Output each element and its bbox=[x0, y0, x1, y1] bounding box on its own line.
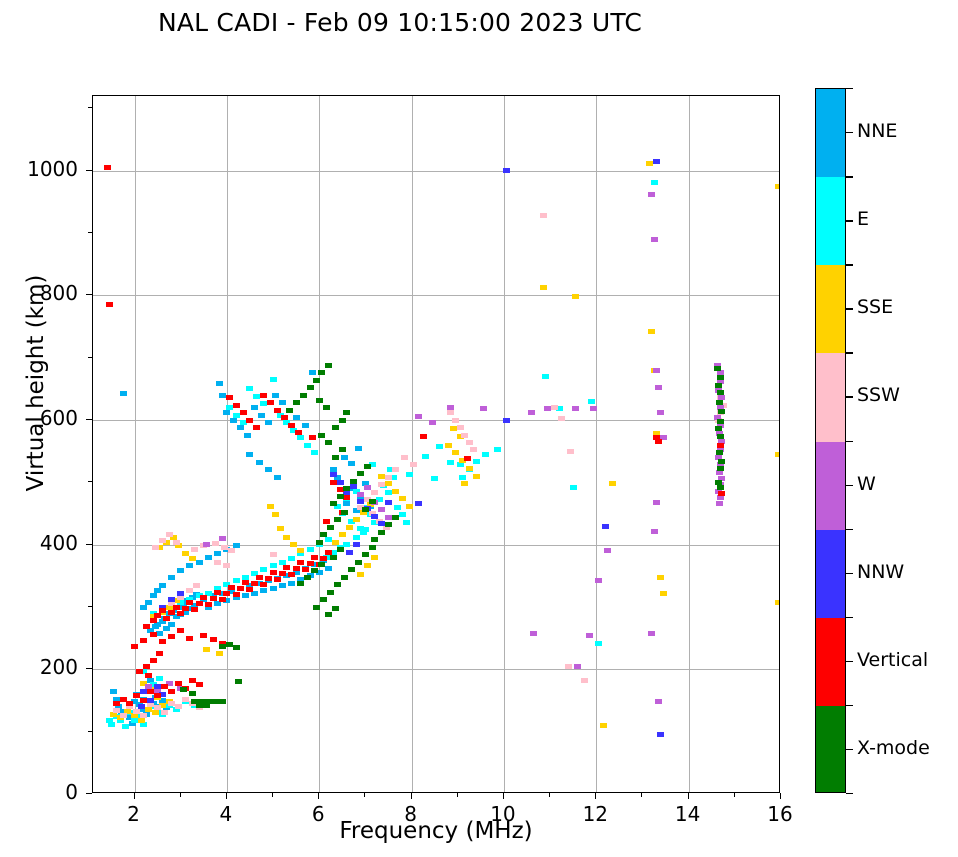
data-point bbox=[212, 541, 219, 546]
data-point bbox=[311, 568, 318, 573]
data-point bbox=[717, 485, 724, 490]
data-point bbox=[542, 374, 549, 379]
data-point bbox=[274, 577, 281, 582]
data-point bbox=[325, 612, 332, 617]
data-point bbox=[288, 556, 295, 561]
data-point bbox=[214, 551, 221, 556]
data-point bbox=[530, 631, 537, 636]
data-point bbox=[311, 450, 318, 455]
data-point bbox=[503, 168, 510, 173]
data-point bbox=[196, 703, 203, 708]
data-point bbox=[394, 505, 401, 510]
data-point bbox=[226, 405, 233, 410]
data-point bbox=[392, 489, 399, 494]
data-point bbox=[341, 575, 348, 580]
data-point bbox=[233, 592, 240, 597]
data-point bbox=[311, 555, 318, 560]
x-axis-tick bbox=[318, 793, 319, 799]
data-point bbox=[186, 588, 193, 593]
data-point bbox=[106, 302, 113, 307]
data-point bbox=[353, 542, 360, 547]
data-point bbox=[193, 583, 200, 588]
data-point bbox=[339, 532, 346, 537]
legend-tick bbox=[846, 749, 853, 750]
data-point bbox=[325, 440, 332, 445]
gridline-vertical bbox=[319, 96, 320, 792]
data-point bbox=[716, 450, 723, 455]
legend-swatch-x-mode[interactable] bbox=[816, 706, 845, 793]
data-point bbox=[364, 464, 371, 469]
data-point bbox=[307, 561, 314, 566]
data-point bbox=[246, 587, 253, 592]
data-point bbox=[196, 601, 203, 606]
x-axis-title: Frequency (MHz) bbox=[92, 818, 780, 844]
data-point bbox=[196, 560, 203, 565]
data-point bbox=[122, 724, 129, 729]
data-point bbox=[717, 466, 724, 471]
data-point bbox=[325, 363, 332, 368]
data-point bbox=[385, 500, 392, 505]
data-point bbox=[120, 391, 127, 396]
data-point bbox=[717, 434, 724, 439]
data-point bbox=[364, 485, 371, 490]
data-point bbox=[406, 472, 413, 477]
legend-label-ssw: SSW bbox=[857, 384, 900, 406]
gridline-horizontal bbox=[93, 420, 779, 421]
data-point bbox=[270, 552, 277, 557]
data-point bbox=[226, 642, 233, 647]
data-point bbox=[330, 472, 337, 477]
data-point bbox=[156, 651, 163, 656]
data-point bbox=[163, 616, 170, 621]
legend-tick bbox=[846, 396, 853, 397]
data-point bbox=[403, 520, 410, 525]
plot-area bbox=[92, 95, 780, 793]
data-point bbox=[570, 485, 577, 490]
data-point bbox=[260, 588, 267, 593]
data-point bbox=[341, 510, 348, 515]
data-point bbox=[445, 443, 452, 448]
gridline-horizontal bbox=[93, 295, 779, 296]
data-point bbox=[600, 723, 607, 728]
legend-swatch-nne[interactable] bbox=[816, 89, 845, 178]
data-point bbox=[422, 454, 429, 459]
ionogram-chart: NAL CADI - Feb 09 10:15:00 2023 UTC 2468… bbox=[0, 0, 958, 857]
data-point bbox=[399, 496, 406, 501]
data-point bbox=[108, 722, 115, 727]
data-point bbox=[140, 713, 147, 718]
legend-label-nne: NNE bbox=[857, 120, 897, 142]
data-point bbox=[313, 378, 320, 383]
legend-label-w: W bbox=[857, 473, 876, 495]
data-point bbox=[385, 481, 392, 486]
data-point bbox=[173, 540, 180, 545]
legend-boundary-tick bbox=[846, 793, 853, 794]
data-point bbox=[175, 704, 182, 709]
data-point bbox=[161, 710, 168, 715]
data-point bbox=[320, 597, 327, 602]
data-point bbox=[156, 676, 163, 681]
data-point bbox=[330, 480, 337, 485]
legend-tick bbox=[846, 220, 853, 221]
data-point bbox=[332, 606, 339, 611]
data-point bbox=[138, 718, 145, 723]
data-point bbox=[574, 664, 581, 669]
data-point bbox=[180, 687, 187, 692]
data-point bbox=[272, 393, 279, 398]
data-point bbox=[120, 713, 127, 718]
legend-swatch-ssw[interactable] bbox=[816, 353, 845, 442]
data-point bbox=[265, 576, 272, 581]
data-point bbox=[177, 628, 184, 633]
legend-boundary-tick bbox=[846, 264, 853, 265]
data-point bbox=[540, 213, 547, 218]
data-point bbox=[150, 593, 157, 598]
data-point bbox=[159, 583, 166, 588]
legend-boundary-tick bbox=[846, 617, 853, 618]
y-axis-tick bbox=[86, 544, 92, 545]
data-point bbox=[595, 641, 602, 646]
gridline-vertical bbox=[689, 96, 690, 792]
data-point bbox=[360, 530, 367, 535]
gridline-vertical bbox=[504, 96, 505, 792]
data-point bbox=[355, 560, 362, 565]
data-point bbox=[244, 433, 251, 438]
data-point bbox=[265, 467, 272, 472]
data-point bbox=[318, 562, 325, 567]
data-point bbox=[609, 481, 616, 486]
data-point bbox=[371, 514, 378, 519]
data-point bbox=[223, 410, 230, 415]
x-axis-tick bbox=[780, 793, 781, 799]
data-point bbox=[348, 461, 355, 466]
data-point bbox=[290, 542, 297, 547]
data-point bbox=[283, 565, 290, 570]
data-point bbox=[237, 425, 244, 430]
x-axis-tick bbox=[688, 793, 689, 799]
data-point bbox=[447, 405, 454, 410]
data-point bbox=[646, 161, 653, 166]
data-point bbox=[293, 566, 300, 571]
data-point bbox=[159, 608, 166, 613]
data-point bbox=[246, 386, 253, 391]
data-point bbox=[295, 430, 302, 435]
data-point bbox=[186, 563, 193, 568]
data-point bbox=[572, 406, 579, 411]
data-point bbox=[378, 482, 385, 487]
legend-swatch-vertical[interactable] bbox=[816, 618, 845, 707]
y-axis-title: Virtual height (km) bbox=[23, 223, 49, 543]
data-point bbox=[186, 600, 193, 605]
x-axis-tick bbox=[503, 793, 504, 799]
data-point bbox=[253, 394, 260, 399]
data-point bbox=[429, 420, 436, 425]
data-point bbox=[150, 632, 157, 637]
data-point bbox=[357, 499, 364, 504]
data-point bbox=[651, 180, 658, 185]
data-point bbox=[343, 542, 350, 547]
data-point bbox=[143, 664, 150, 669]
data-point bbox=[233, 578, 240, 583]
data-point bbox=[242, 580, 249, 585]
data-point bbox=[288, 423, 295, 428]
data-point bbox=[265, 420, 272, 425]
data-point bbox=[459, 475, 466, 480]
data-point bbox=[588, 399, 595, 404]
data-point bbox=[558, 416, 565, 421]
data-point bbox=[154, 588, 161, 593]
data-point bbox=[320, 532, 327, 537]
data-point bbox=[457, 462, 464, 467]
data-point bbox=[341, 455, 348, 460]
data-point bbox=[461, 481, 468, 486]
data-point bbox=[228, 548, 235, 553]
data-point bbox=[168, 610, 175, 615]
data-point bbox=[166, 532, 173, 537]
y-axis-minor-tick bbox=[88, 107, 92, 108]
data-point bbox=[334, 582, 341, 587]
legend-swatch-sse[interactable] bbox=[816, 265, 845, 354]
data-point bbox=[717, 390, 724, 395]
data-point bbox=[147, 689, 154, 694]
data-point bbox=[653, 368, 660, 373]
data-point bbox=[140, 638, 147, 643]
data-point bbox=[297, 548, 304, 553]
data-point bbox=[473, 474, 480, 479]
data-point bbox=[293, 400, 300, 405]
data-point bbox=[267, 504, 274, 509]
data-point bbox=[528, 410, 535, 415]
data-point bbox=[288, 581, 295, 586]
data-point bbox=[655, 699, 662, 704]
data-point bbox=[392, 467, 399, 472]
legend-boundary-tick bbox=[846, 88, 853, 89]
data-point bbox=[357, 572, 364, 577]
data-point bbox=[260, 582, 267, 587]
data-point bbox=[219, 597, 226, 602]
data-point bbox=[318, 433, 325, 438]
data-point bbox=[196, 682, 203, 687]
data-point bbox=[717, 375, 724, 380]
data-point bbox=[369, 545, 376, 550]
data-point bbox=[364, 563, 371, 568]
data-point bbox=[337, 494, 344, 499]
data-point bbox=[399, 512, 406, 517]
data-point bbox=[214, 590, 221, 595]
data-point bbox=[191, 607, 198, 612]
data-point bbox=[775, 600, 780, 605]
data-point bbox=[337, 547, 344, 552]
data-point bbox=[718, 409, 725, 414]
data-point bbox=[240, 410, 247, 415]
legend-colorbar[interactable] bbox=[815, 88, 846, 793]
data-point bbox=[140, 605, 147, 610]
legend-tick bbox=[846, 485, 853, 486]
data-point bbox=[156, 631, 163, 636]
legend-swatch-nnw[interactable] bbox=[816, 530, 845, 619]
data-point bbox=[140, 698, 147, 703]
data-point bbox=[253, 425, 260, 430]
data-point bbox=[302, 567, 309, 572]
legend-label-nnw: NNW bbox=[857, 561, 904, 583]
data-point bbox=[152, 545, 159, 550]
data-point bbox=[304, 575, 311, 580]
data-point bbox=[473, 459, 480, 464]
data-point bbox=[279, 571, 286, 576]
data-point bbox=[357, 492, 364, 497]
data-point bbox=[371, 555, 378, 560]
data-point bbox=[210, 596, 217, 601]
data-point bbox=[203, 542, 210, 547]
data-point bbox=[775, 452, 780, 457]
data-point bbox=[648, 329, 655, 334]
y-axis-tick bbox=[86, 419, 92, 420]
data-point bbox=[216, 651, 223, 656]
data-point bbox=[281, 415, 288, 420]
data-point bbox=[718, 459, 725, 464]
data-point bbox=[297, 560, 304, 565]
y-axis-minor-tick bbox=[88, 481, 92, 482]
data-point bbox=[110, 689, 117, 694]
data-point bbox=[503, 418, 510, 423]
legend-label-x-mode: X-mode bbox=[857, 737, 930, 759]
data-point bbox=[343, 410, 350, 415]
data-point bbox=[602, 524, 609, 529]
data-point bbox=[452, 418, 459, 423]
data-point bbox=[410, 462, 417, 467]
data-point bbox=[320, 556, 327, 561]
y-axis-minor-tick bbox=[88, 606, 92, 607]
legend-swatch-w[interactable] bbox=[816, 442, 845, 531]
data-point bbox=[464, 456, 471, 461]
data-point bbox=[653, 159, 660, 164]
data-point bbox=[136, 669, 143, 674]
data-point bbox=[267, 400, 274, 405]
data-point bbox=[480, 406, 487, 411]
data-point bbox=[168, 689, 175, 694]
gridline-vertical bbox=[135, 96, 136, 792]
data-point bbox=[226, 395, 233, 400]
data-point bbox=[660, 591, 667, 596]
data-point bbox=[581, 678, 588, 683]
data-point bbox=[655, 385, 662, 390]
data-point bbox=[316, 398, 323, 403]
data-point bbox=[270, 586, 277, 591]
data-point bbox=[214, 601, 221, 606]
data-point bbox=[304, 443, 311, 448]
data-point bbox=[717, 443, 724, 448]
data-point bbox=[494, 447, 501, 452]
legend-tick bbox=[846, 573, 853, 574]
y-axis-minor-tick bbox=[88, 731, 92, 732]
data-point bbox=[313, 605, 320, 610]
data-point bbox=[346, 525, 353, 530]
gridline-vertical bbox=[227, 96, 228, 792]
data-point bbox=[147, 698, 154, 703]
data-point bbox=[420, 434, 427, 439]
data-point bbox=[168, 634, 175, 639]
data-point bbox=[163, 626, 170, 631]
y-axis-tick-label: 0 bbox=[0, 780, 78, 804]
data-point bbox=[590, 406, 597, 411]
data-point bbox=[168, 597, 175, 602]
data-point bbox=[230, 418, 237, 423]
data-point bbox=[655, 439, 662, 444]
data-point bbox=[177, 568, 184, 573]
data-point bbox=[191, 547, 198, 552]
legend-swatch-e[interactable] bbox=[816, 177, 845, 266]
data-point bbox=[357, 471, 364, 476]
data-point bbox=[246, 418, 253, 423]
data-point bbox=[332, 540, 339, 545]
data-point bbox=[260, 567, 267, 572]
y-axis-minor-tick bbox=[88, 357, 92, 358]
data-point bbox=[385, 475, 392, 480]
x-axis-tick bbox=[411, 793, 412, 799]
data-point bbox=[657, 575, 664, 580]
gridline-horizontal bbox=[93, 669, 779, 670]
data-point bbox=[350, 484, 357, 489]
data-point bbox=[551, 405, 558, 410]
data-point bbox=[715, 426, 722, 431]
data-point bbox=[177, 591, 184, 596]
data-point bbox=[648, 192, 655, 197]
x-axis-tick bbox=[134, 793, 135, 799]
data-point bbox=[274, 408, 281, 413]
data-point bbox=[346, 550, 353, 555]
data-point bbox=[572, 294, 579, 299]
data-point bbox=[173, 605, 180, 610]
gridline-horizontal bbox=[93, 171, 779, 172]
data-point bbox=[307, 547, 314, 552]
data-point bbox=[182, 606, 189, 611]
data-point bbox=[189, 556, 196, 561]
data-point bbox=[233, 403, 240, 408]
data-point bbox=[714, 366, 721, 371]
data-point bbox=[154, 613, 161, 618]
data-point bbox=[270, 570, 277, 575]
data-point bbox=[279, 583, 286, 588]
data-point bbox=[260, 393, 267, 398]
data-point bbox=[246, 452, 253, 457]
data-point bbox=[214, 560, 221, 565]
data-point bbox=[186, 636, 193, 641]
data-point bbox=[775, 184, 780, 189]
data-point bbox=[279, 400, 286, 405]
legend-tick bbox=[846, 132, 853, 133]
data-point bbox=[716, 501, 723, 506]
data-point bbox=[274, 475, 281, 480]
data-point bbox=[369, 499, 376, 504]
legend-tick bbox=[846, 661, 853, 662]
x-axis-minor-tick bbox=[641, 793, 642, 797]
y-axis-tick bbox=[86, 793, 92, 794]
data-point bbox=[200, 595, 207, 600]
data-point bbox=[657, 732, 664, 737]
data-point bbox=[337, 480, 344, 485]
data-point bbox=[447, 410, 454, 415]
data-point bbox=[567, 449, 574, 454]
data-point bbox=[653, 500, 660, 505]
data-point bbox=[470, 447, 477, 452]
data-point bbox=[177, 611, 184, 616]
x-axis-minor-tick bbox=[272, 793, 273, 797]
y-axis-tick bbox=[86, 668, 92, 669]
data-point bbox=[392, 515, 399, 520]
data-point bbox=[297, 581, 304, 586]
data-point bbox=[452, 450, 459, 455]
data-point bbox=[332, 425, 339, 430]
